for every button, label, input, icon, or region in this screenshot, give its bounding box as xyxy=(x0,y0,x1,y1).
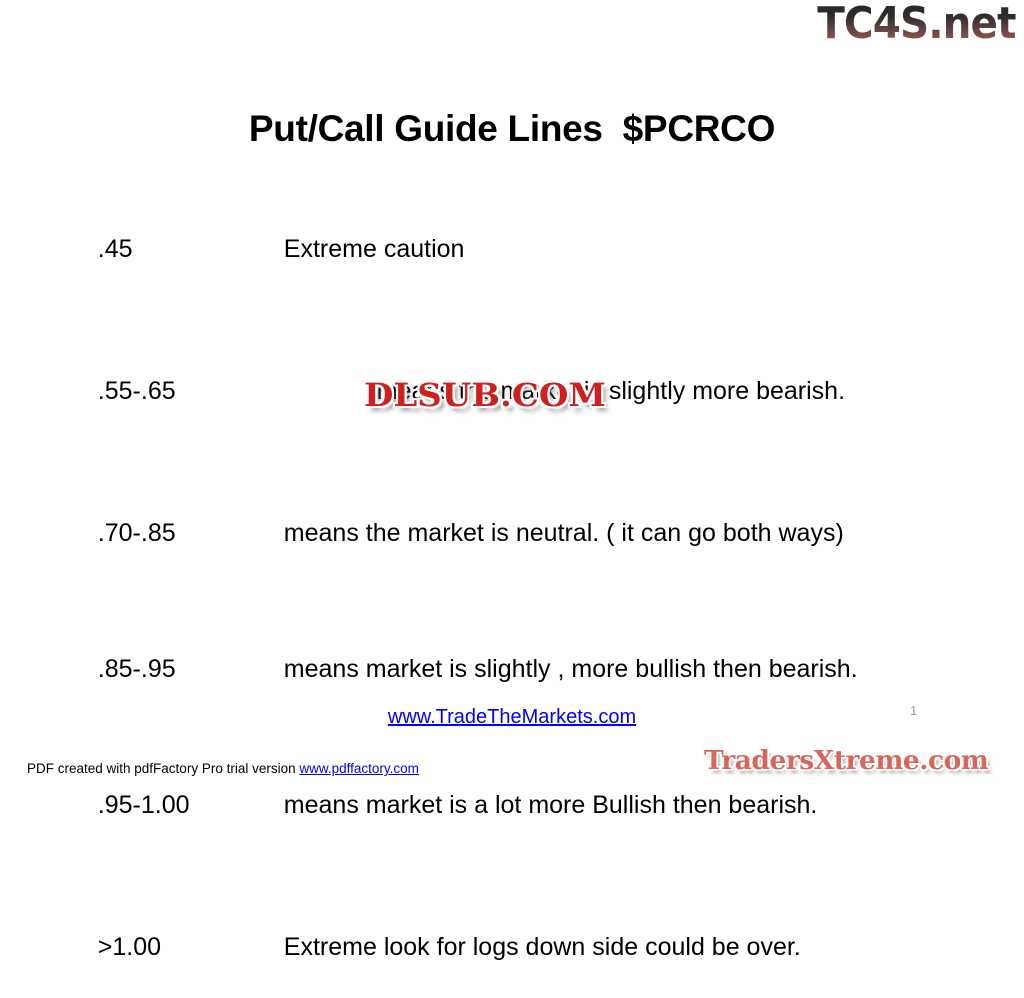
pdf-footer-text: PDF created with pdfFactory Pro trial ve… xyxy=(27,761,299,776)
put-call-guide-list: .45Extreme caution .55-.65means the mark… xyxy=(70,198,960,998)
tc4s-brand-logo: TC4S.net xyxy=(818,0,1016,50)
list-item: .45Extreme caution xyxy=(70,198,960,300)
tradethemarkets-link[interactable]: www.TradeTheMarkets.com xyxy=(0,704,1024,730)
list-item: >1.00Extreme look for logs down side cou… xyxy=(70,896,960,998)
guide-range-description: means market is a lot more Bullish then … xyxy=(284,791,818,819)
pdffactory-link[interactable]: www.pdffactory.com xyxy=(299,761,419,776)
guide-range-description: Extreme look for logs down side could be… xyxy=(284,933,801,961)
guide-range-value: >1.00 xyxy=(98,930,284,964)
pdf-footer-notice: PDF created with pdfFactory Pro trial ve… xyxy=(27,760,419,778)
tradersxtreme-watermark: TradersXtreme.com xyxy=(704,745,988,777)
guide-range-description: means market is slightly , more bullish … xyxy=(284,655,858,683)
guide-range-description: Extreme caution xyxy=(284,235,465,263)
page-title: Put/Call Guide Lines $PCRCO xyxy=(0,107,1024,151)
guide-range-description: means the market is neutral. ( it can go… xyxy=(284,519,844,547)
guide-range-value: .55-.65 xyxy=(98,374,377,408)
guide-range-value: .45 xyxy=(98,232,284,266)
page-number: 1 xyxy=(910,703,917,719)
guide-range-value: .95-1.00 xyxy=(98,788,284,822)
dlsub-watermark: DLSUB.COM xyxy=(364,377,606,413)
list-item: .70-.85means the market is neutral. ( it… xyxy=(70,482,960,584)
guide-range-value: .70-.85 xyxy=(98,516,284,550)
guide-range-value: .85-.95 xyxy=(98,652,284,686)
